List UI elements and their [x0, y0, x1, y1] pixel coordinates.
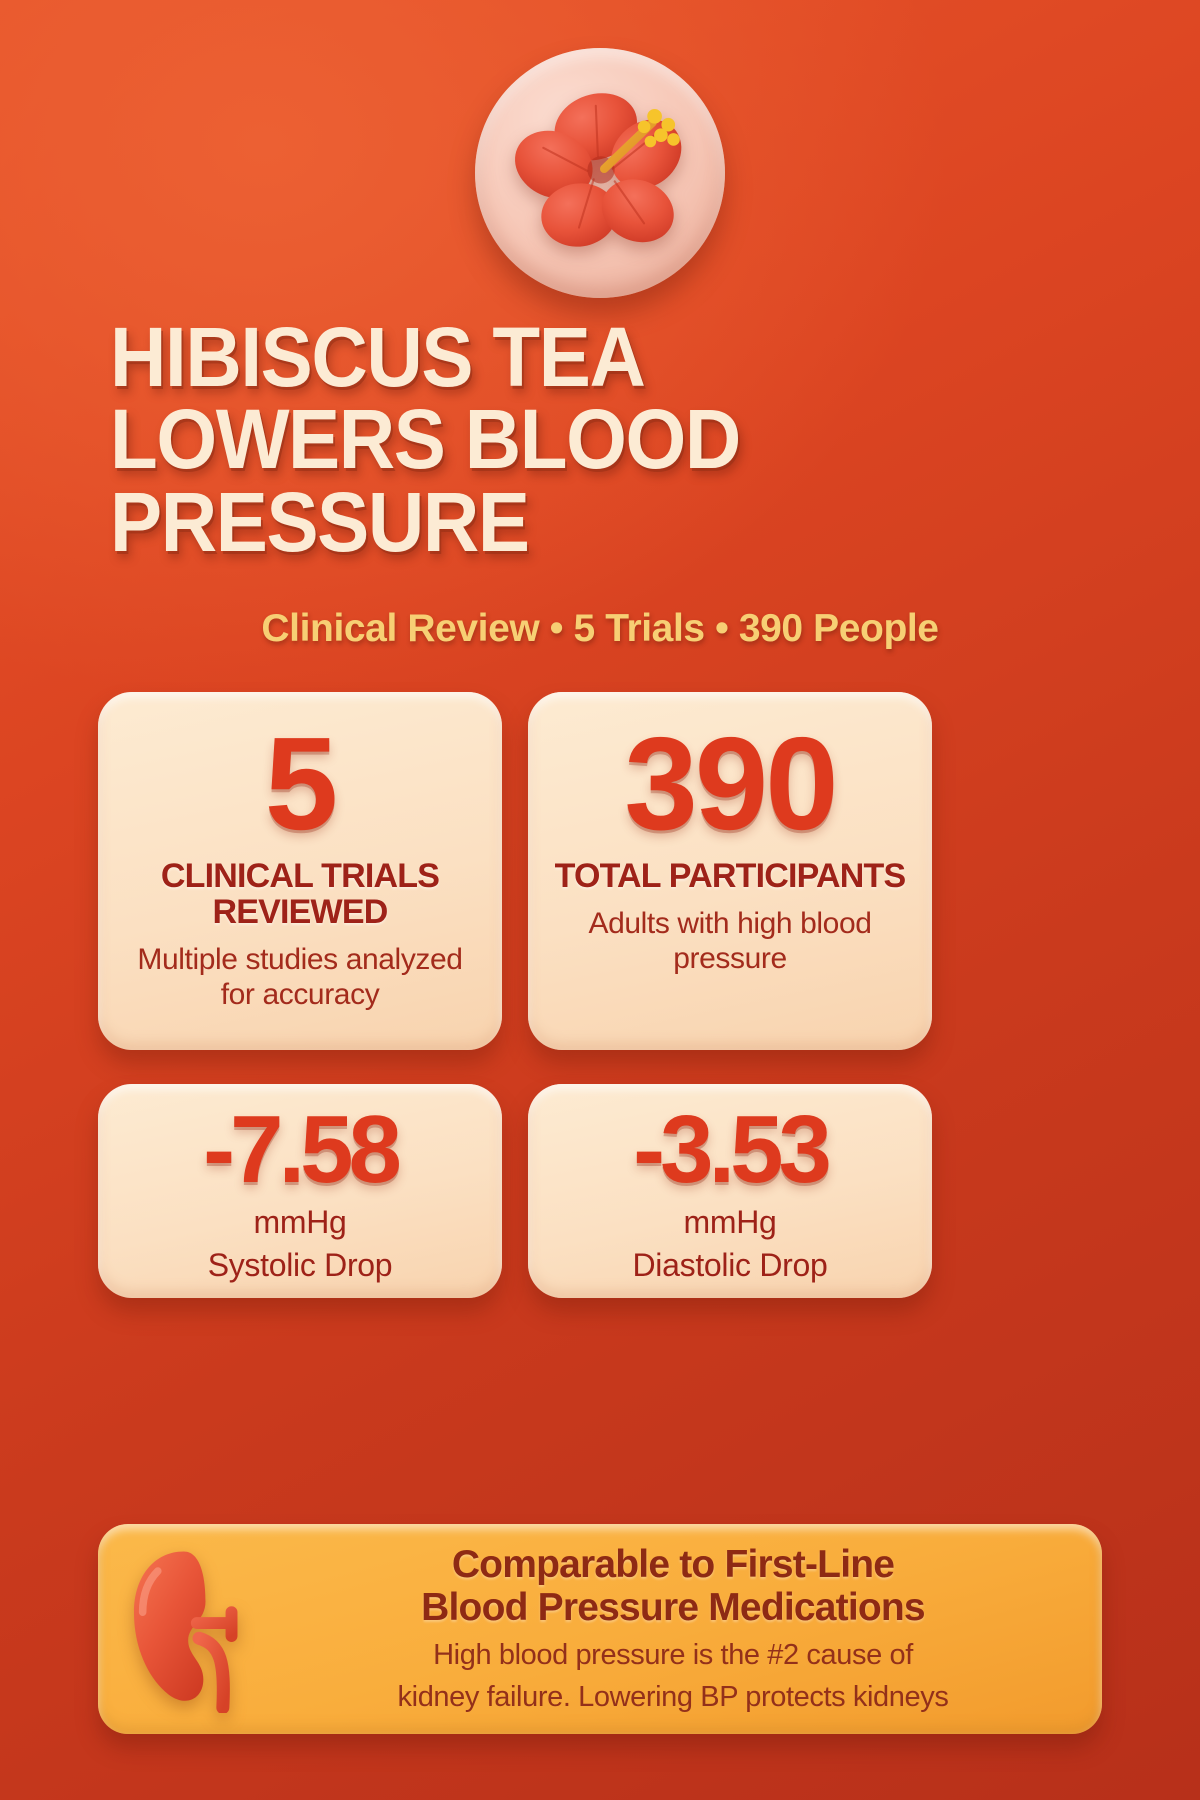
- stat-caption: Diastolic Drop: [552, 1247, 908, 1284]
- stat-caption: Systolic Drop: [122, 1247, 478, 1284]
- headline-line-3: PRESSURE: [110, 481, 1021, 563]
- flower-badge: [475, 48, 725, 298]
- subtitle: Clinical Review • 5 Trials • 390 People: [0, 607, 1200, 651]
- stat-description: Adults with high blood pressure: [552, 906, 908, 977]
- banner-headline-line-1: Comparable to First-Line: [268, 1544, 1078, 1587]
- stat-value: 5: [122, 718, 478, 850]
- stat-description: Multiple studies analyzed for accuracy: [122, 942, 478, 1013]
- banner-text-block: Comparable to First-Line Blood Pressure …: [268, 1544, 1078, 1714]
- stat-card-systolic: -7.58 mmHg Systolic Drop: [98, 1084, 502, 1298]
- stat-value: 390: [552, 718, 908, 850]
- stat-value: -7.58: [122, 1102, 478, 1198]
- stat-unit: mmHg: [122, 1204, 478, 1241]
- stat-label: TOTAL PARTICIPANTS: [552, 858, 908, 894]
- banner-headline-line-2: Blood Pressure Medications: [268, 1587, 1078, 1630]
- stat-label: CLINICAL TRIALS REVIEWED: [122, 858, 478, 930]
- banner-sub-line-2: kidney failure. Lowering BP protects kid…: [268, 1680, 1078, 1714]
- kidney-icon: [120, 1545, 252, 1713]
- badge-container: [0, 48, 1200, 298]
- infographic-poster: HIBISCUS TEA LOWERS BLOOD PRESSURE Clini…: [0, 0, 1200, 1800]
- banner-sub-line-1: High blood pressure is the #2 cause of: [268, 1638, 1078, 1672]
- headline-line-2: LOWERS BLOOD: [110, 398, 1021, 480]
- stat-card-trials: 5 CLINICAL TRIALS REVIEWED Multiple stud…: [98, 692, 502, 1050]
- stat-card-grid: 5 CLINICAL TRIALS REVIEWED Multiple stud…: [98, 692, 1102, 1298]
- stat-value: -3.53: [552, 1102, 908, 1198]
- headline-line-1: HIBISCUS TEA: [110, 316, 1021, 398]
- hibiscus-flower-icon: [495, 68, 705, 278]
- stat-unit: mmHg: [552, 1204, 908, 1241]
- stat-card-diastolic: -3.53 mmHg Diastolic Drop: [528, 1084, 932, 1298]
- page-title: HIBISCUS TEA LOWERS BLOOD PRESSURE: [0, 316, 1200, 563]
- kidney-banner: Comparable to First-Line Blood Pressure …: [98, 1524, 1102, 1734]
- stat-card-participants: 390 TOTAL PARTICIPANTS Adults with high …: [528, 692, 932, 1050]
